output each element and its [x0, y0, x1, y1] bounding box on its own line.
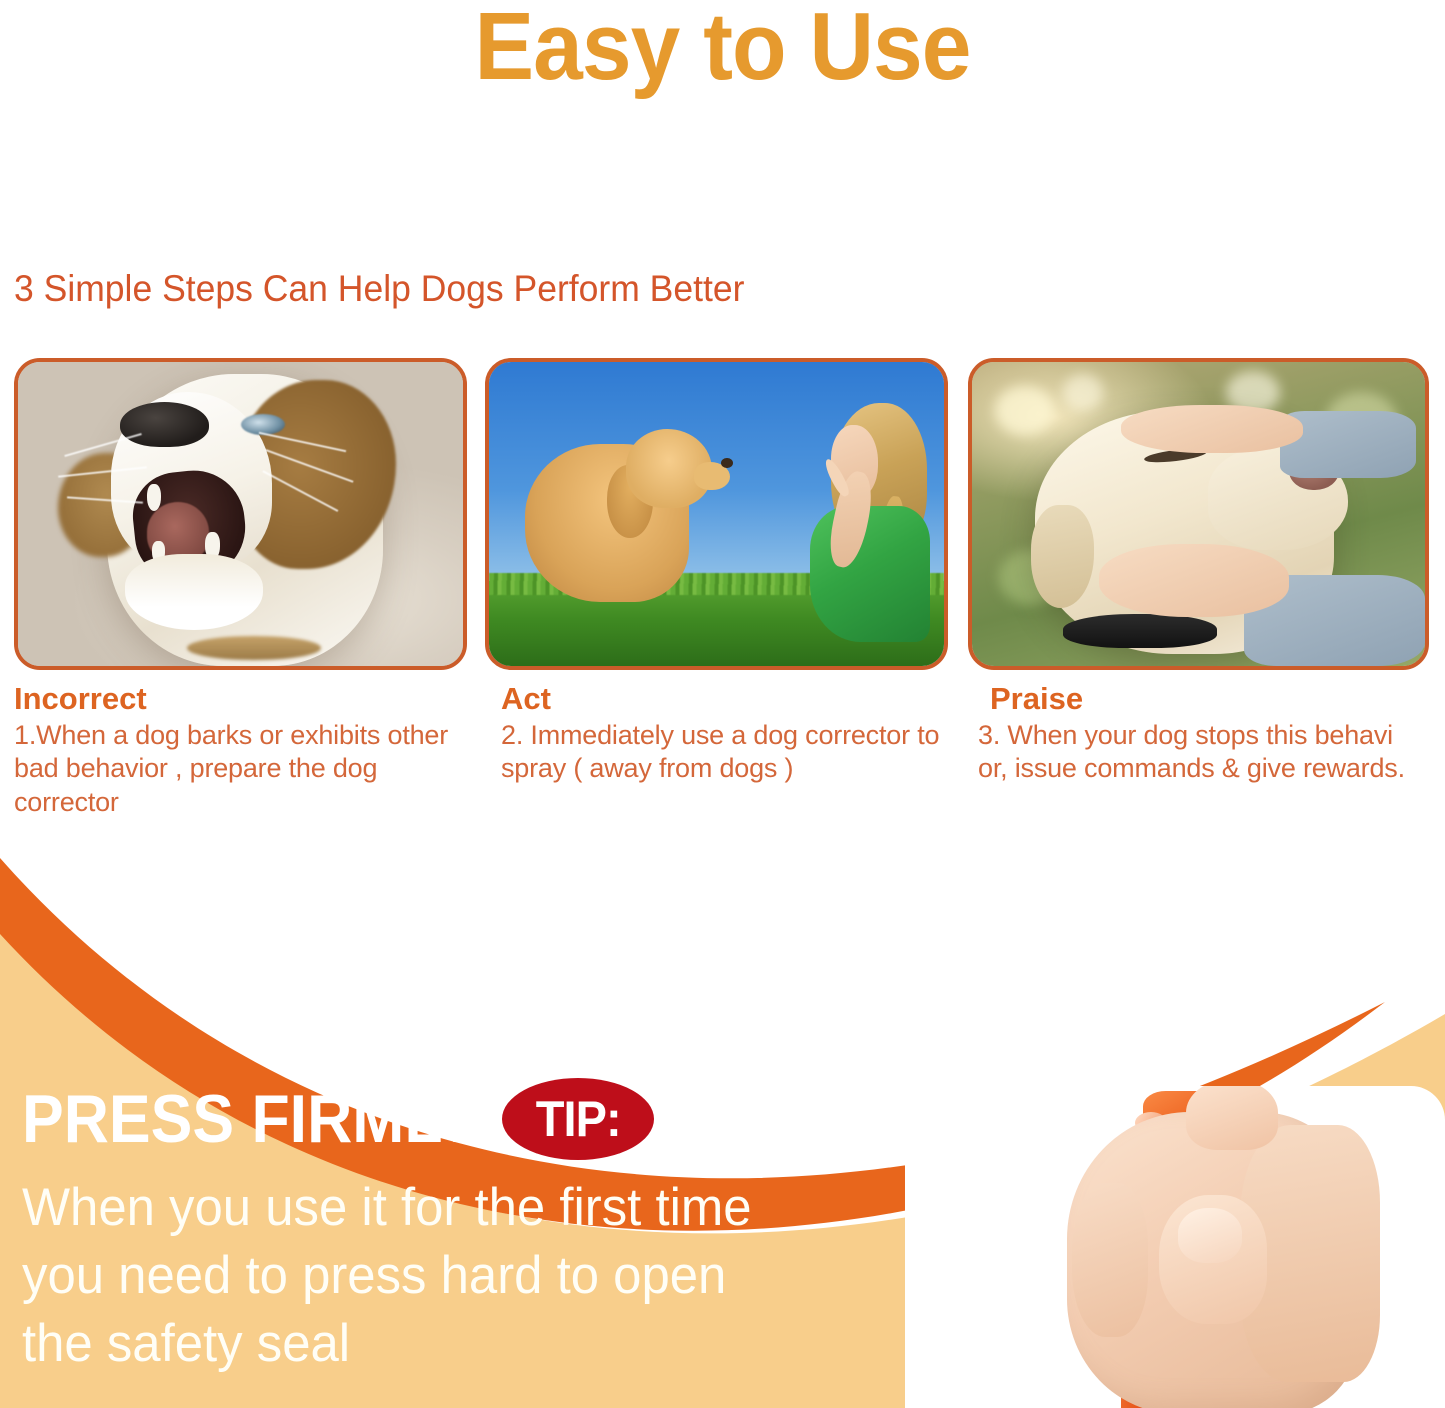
step-photo-act	[485, 358, 948, 670]
training-dog-image	[489, 362, 944, 666]
step-card-praise: Praise 3. When your dog stops this behav…	[962, 358, 1443, 828]
step-caption-praise: Praise 3. When your dog stops this behav…	[968, 682, 1429, 786]
step-body-act: 2. Immediately use a dog corrector to sp…	[501, 719, 948, 786]
product-photo-panel	[905, 1086, 1445, 1408]
page-title: Easy to Use	[51, 0, 1395, 100]
step-card-incorrect: Incorrect 1.When a dog barks or exhibits…	[0, 358, 481, 828]
page-subtitle: 3 Simple Steps Can Help Dogs Perform Bet…	[14, 268, 744, 310]
spray-can-in-hand-image	[905, 1086, 1445, 1408]
press-headline-row: PRESS FIRMLY TIP:	[22, 1078, 862, 1160]
step-card-act: Act 2. Immediately use a dog corrector t…	[481, 358, 962, 828]
step-heading-praise: Praise	[990, 682, 1429, 717]
step-caption-incorrect: Incorrect 1.When a dog barks or exhibits…	[14, 682, 467, 819]
tip-badge-label: TIP:	[536, 1094, 621, 1144]
step-heading-incorrect: Incorrect	[14, 682, 467, 717]
press-firmly-body: When you use it for the first time you n…	[22, 1174, 828, 1377]
step-heading-act: Act	[501, 682, 948, 717]
step-body-incorrect: 1.When a dog barks or exhibits other bad…	[14, 719, 467, 819]
step-photo-incorrect	[14, 358, 467, 670]
tip-badge: TIP:	[502, 1078, 654, 1160]
press-firmly-block: PRESS FIRMLY TIP: When you use it for th…	[22, 1078, 862, 1377]
steps-container: Incorrect 1.When a dog barks or exhibits…	[0, 358, 1445, 828]
press-firmly-headline: PRESS FIRMLY	[22, 1085, 479, 1153]
petting-dog-image	[972, 362, 1425, 666]
step-body-praise: 3. When your dog stops this behavi or, i…	[978, 719, 1429, 786]
step-caption-act: Act 2. Immediately use a dog corrector t…	[485, 682, 948, 786]
step-photo-praise	[968, 358, 1429, 670]
barking-dog-image	[18, 362, 463, 666]
